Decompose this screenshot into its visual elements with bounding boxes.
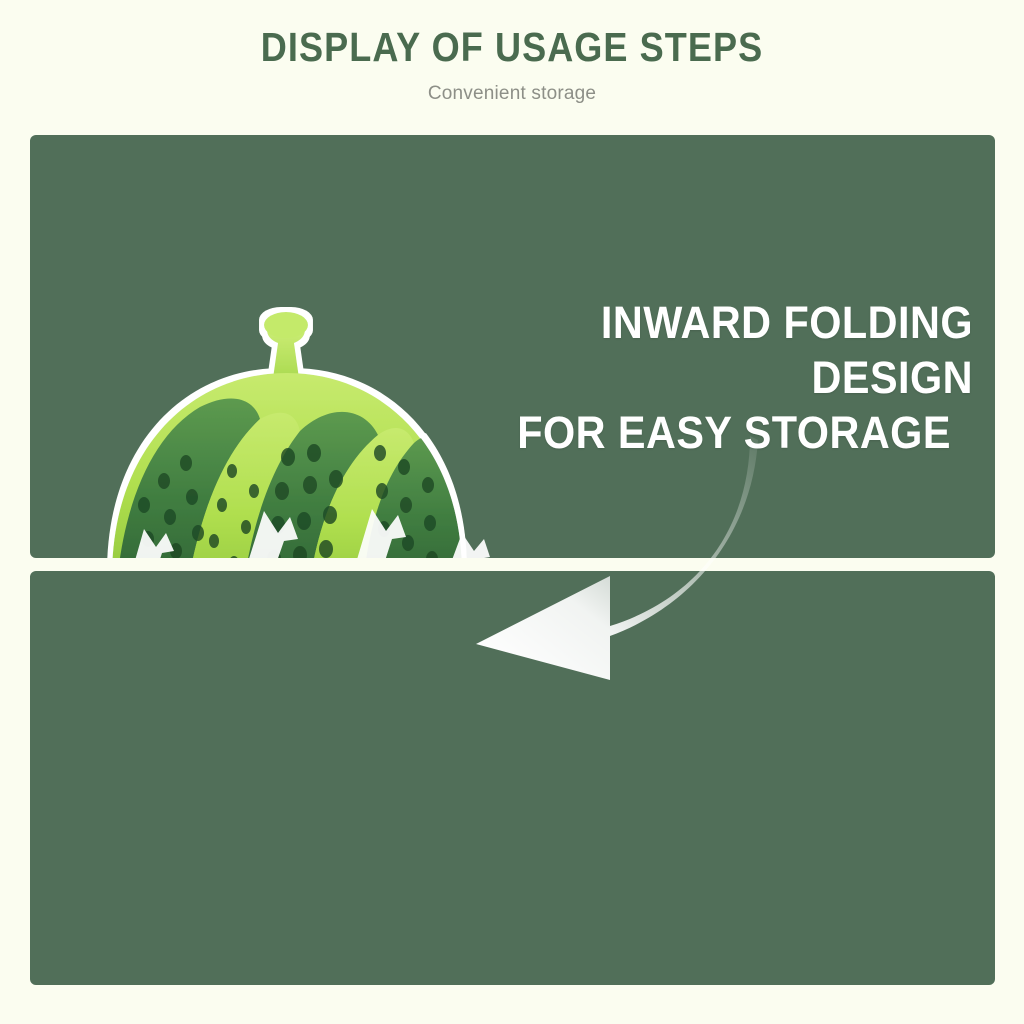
infographic-page: DISPLAY OF USAGE STEPS Convenient storag…	[0, 0, 1024, 1024]
caption-folded-state: INWARD FOLDING DESIGN FOR EASY STORAGE	[439, 296, 973, 461]
page-subtitle: Convenient storage	[0, 83, 1024, 105]
panel-folded-state: INWARD FOLDING DESIGN FOR EASY STORAGE	[30, 135, 995, 558]
caption-line-2: FOR EASY STORAGE	[439, 406, 973, 461]
product-image-folded-basket	[82, 295, 492, 558]
panel-open-state: INWARD FOLDING DESIGN FOR EASY STORAGE	[30, 571, 995, 985]
caption-line-1: INWARD FOLDING DESIGN	[601, 297, 973, 403]
header: DISPLAY OF USAGE STEPS Convenient storag…	[0, 26, 1024, 105]
page-title: DISPLAY OF USAGE STEPS	[61, 26, 962, 69]
